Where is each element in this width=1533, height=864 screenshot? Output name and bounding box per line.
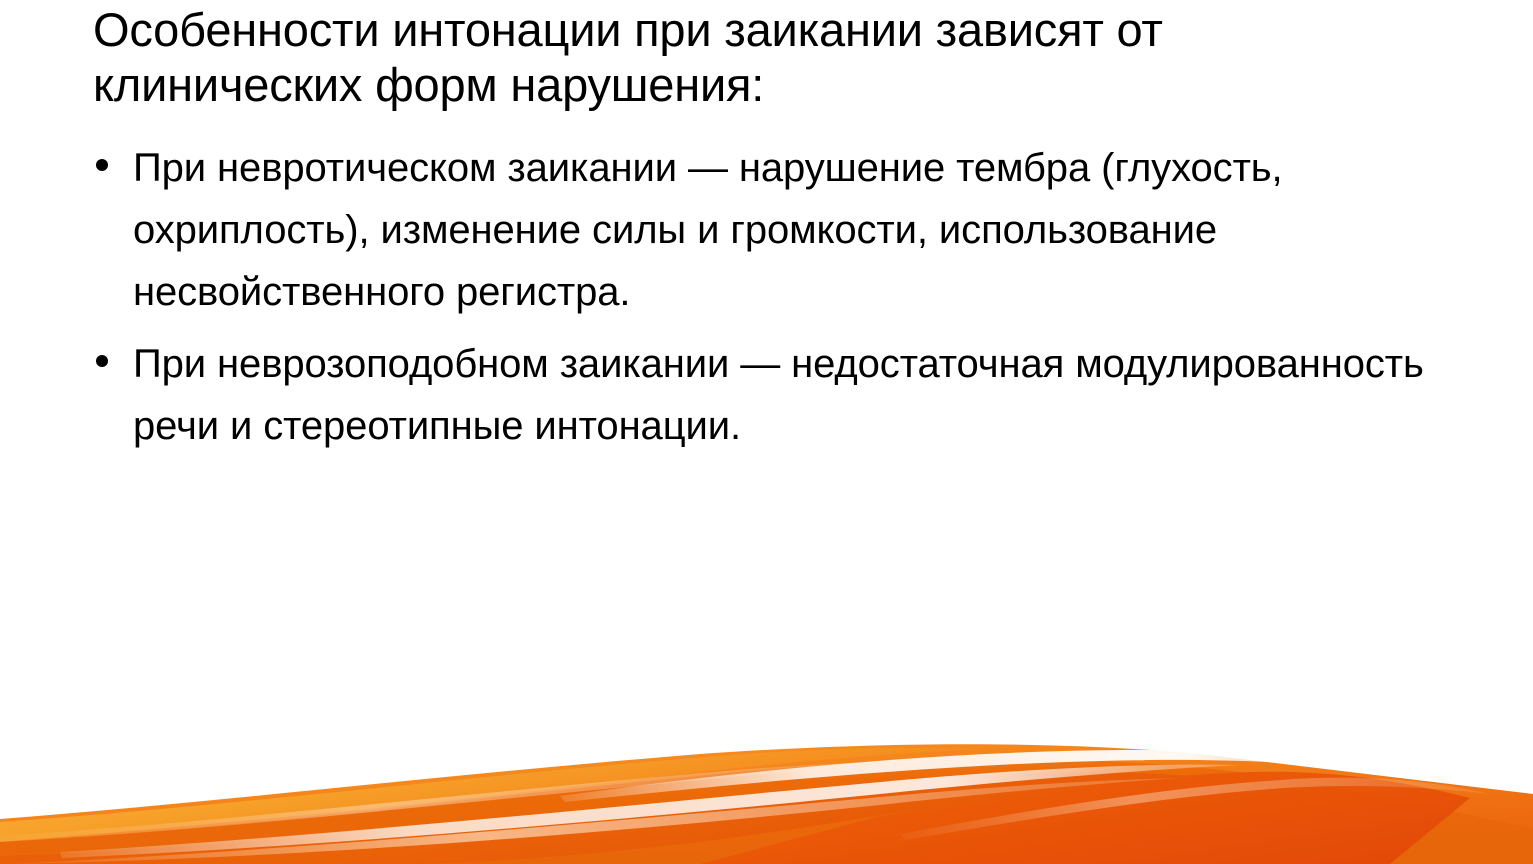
wave-right-tail xyxy=(700,772,1470,864)
wave-streak-top xyxy=(560,750,1400,802)
presentation-slide: Особенности интонации при заикании завис… xyxy=(0,0,1533,864)
wave-gold-highlight xyxy=(0,748,985,842)
list-item: При неврозоподобном заикании — недостато… xyxy=(93,333,1443,457)
wave-streak-tail xyxy=(900,778,1490,840)
bullet-list: При невротическом заикании — нарушение т… xyxy=(93,137,1443,457)
wave-streak-middle xyxy=(60,765,1240,858)
wave-upper-band xyxy=(0,744,1533,864)
wave-front-band xyxy=(0,772,1190,864)
orange-wave-graphic xyxy=(0,724,1533,864)
list-item: При невротическом заикании — нарушение т… xyxy=(93,137,1443,323)
list-item-text: При невротическом заикании — нарушение т… xyxy=(133,146,1283,314)
page-title: Особенности интонации при заикании завис… xyxy=(93,0,1443,112)
list-item-text: При неврозоподобном заикании — недостато… xyxy=(133,342,1424,448)
wave-streak-upper-left xyxy=(0,761,940,842)
bullet-point-icon xyxy=(96,159,108,171)
slide-content: Особенности интонации при заикании завис… xyxy=(93,0,1443,457)
bullet-point-icon xyxy=(96,355,108,367)
wave-main-body xyxy=(0,759,1533,864)
wave-streak-lower xyxy=(10,778,1180,864)
